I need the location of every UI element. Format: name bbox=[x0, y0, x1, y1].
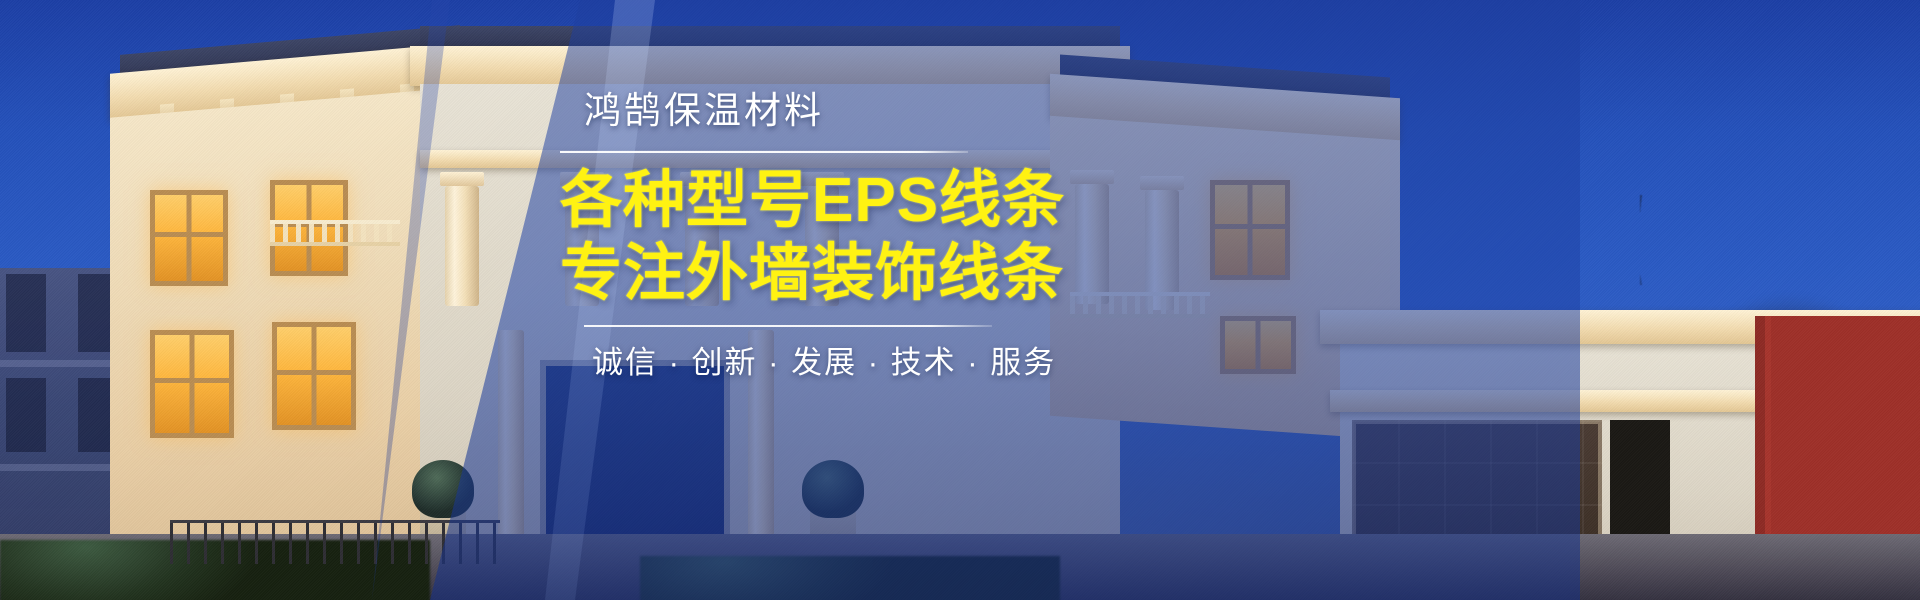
headline-line-2: 专注外墙装饰线条 bbox=[560, 242, 1500, 305]
company-name: 鸿鹄保温材料 bbox=[584, 92, 1500, 129]
iron-railing bbox=[170, 520, 500, 564]
lit-window bbox=[272, 322, 356, 430]
divider-top bbox=[560, 151, 968, 153]
divider-bottom bbox=[584, 325, 992, 327]
hedge-mid bbox=[640, 556, 1060, 600]
lit-window bbox=[150, 330, 234, 438]
headline: 各种型号EPS线条 专注外墙装饰线条 bbox=[560, 169, 1500, 305]
headline-line-1: 各种型号EPS线条 bbox=[560, 169, 1500, 232]
bare-branch bbox=[1640, 195, 1900, 285]
lit-window bbox=[150, 190, 228, 286]
banner-content: 鸿鹄保温材料 各种型号EPS线条 专注外墙装饰线条 诚信 · 创新 · 发展 ·… bbox=[560, 92, 1500, 412]
promo-banner: 鸿鹄保温材料 各种型号EPS线条 专注外墙装饰线条 诚信 · 创新 · 发展 ·… bbox=[0, 0, 1920, 600]
tagline: 诚信 · 创新 · 发展 · 技术 · 服务 bbox=[592, 347, 1500, 378]
